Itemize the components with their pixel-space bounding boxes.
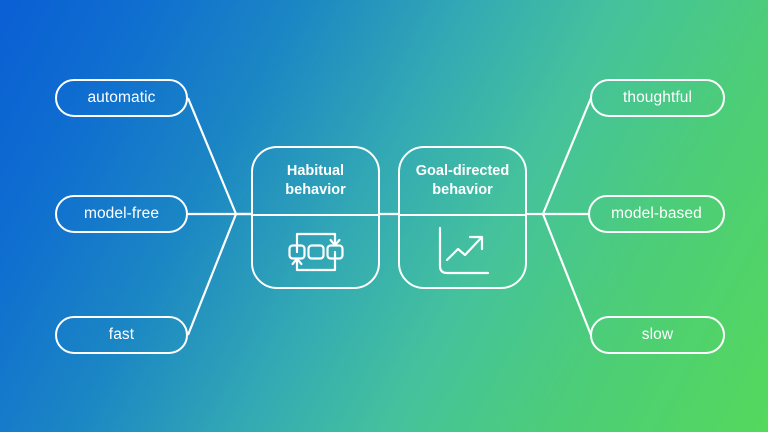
- trending-up-chart-icon: [433, 224, 493, 280]
- card-title-line-2: behavior: [432, 182, 492, 198]
- card-title-line-2: behavior: [285, 182, 345, 198]
- attribute-pill-model-based[interactable]: model-based: [588, 195, 725, 233]
- attribute-pill-fast[interactable]: fast: [55, 316, 188, 354]
- attribute-pill-model-free[interactable]: model-free: [55, 195, 188, 233]
- card-title: Goal-directed behavior: [400, 148, 525, 216]
- attribute-label: model-free: [84, 205, 159, 223]
- card-title-line-1: Habitual: [287, 163, 344, 179]
- attribute-pill-slow[interactable]: slow: [590, 316, 725, 354]
- attribute-pill-automatic[interactable]: automatic: [55, 79, 188, 117]
- attribute-label: slow: [642, 326, 673, 344]
- card-icon-slot: [253, 216, 378, 287]
- attribute-label: model-based: [611, 205, 702, 223]
- concept-card-goal-directed-behavior[interactable]: Goal-directed behavior: [398, 146, 527, 289]
- card-icon-slot: [400, 216, 525, 287]
- connector-slow: [543, 214, 591, 335]
- card-title-line-1: Goal-directed: [416, 163, 509, 179]
- diagram-canvas: automatic model-free fast Habitual behav…: [0, 0, 768, 432]
- connector-automatic: [188, 98, 236, 214]
- connector-fast: [188, 214, 236, 335]
- attribute-label: automatic: [87, 89, 155, 107]
- attribute-label: thoughtful: [623, 89, 692, 107]
- concept-card-habitual-behavior[interactable]: Habitual behavior: [251, 146, 380, 289]
- card-title: Habitual behavior: [253, 148, 378, 216]
- attribute-label: fast: [109, 326, 134, 344]
- loop-cycle-icon: [285, 224, 347, 280]
- connector-thoughtful: [543, 98, 591, 214]
- attribute-pill-thoughtful[interactable]: thoughtful: [590, 79, 725, 117]
